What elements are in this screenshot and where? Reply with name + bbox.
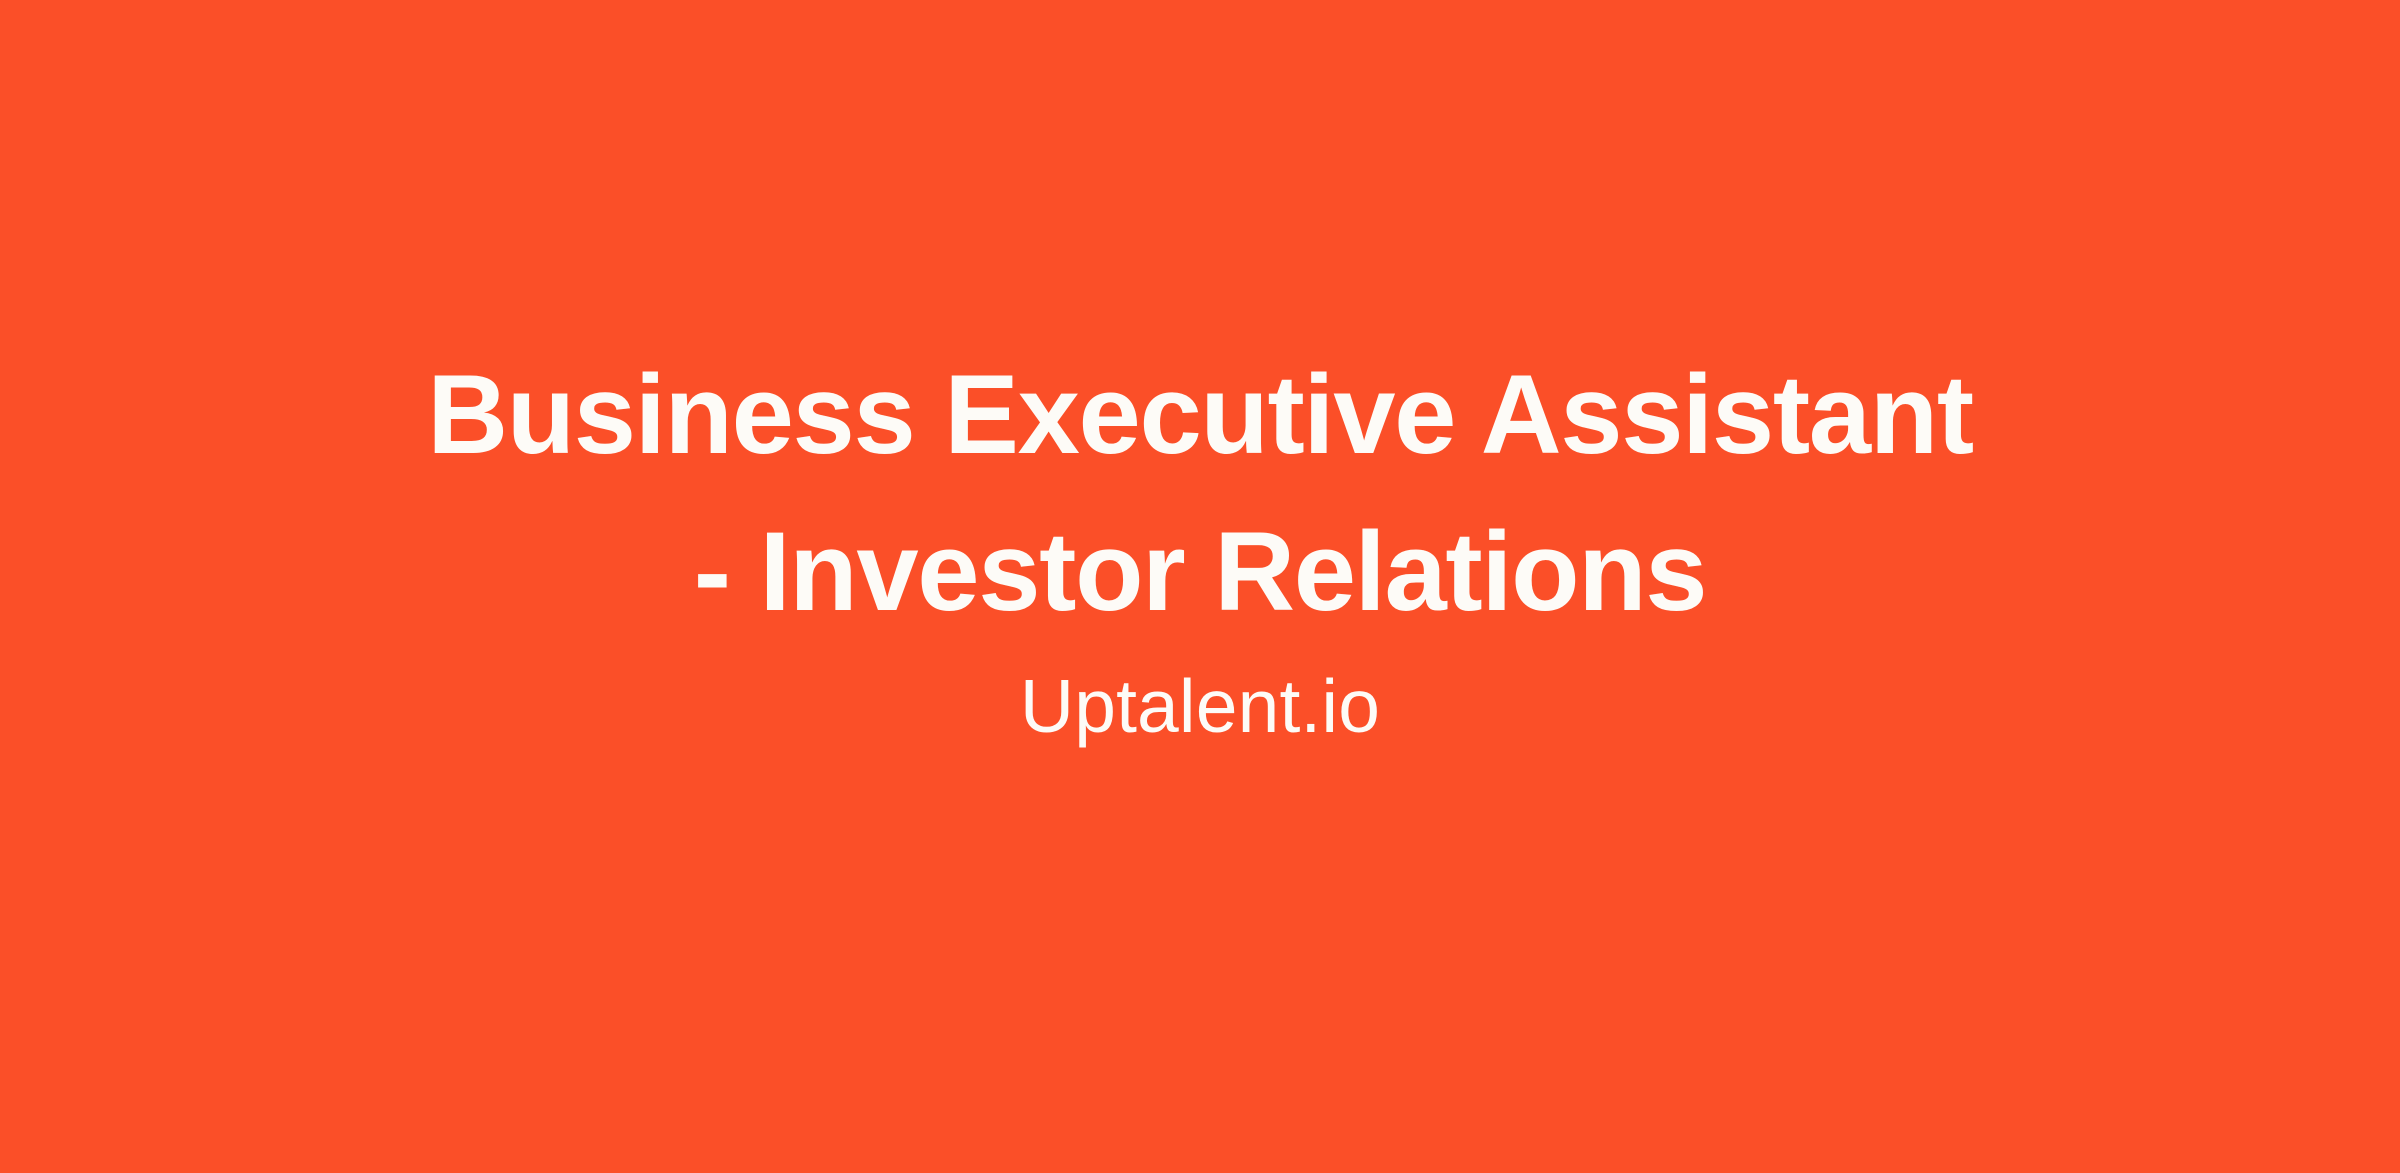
page-title: Business Executive Assistant - Investor … <box>427 336 1973 650</box>
card-text-stack: Business Executive Assistant - Investor … <box>200 336 2200 754</box>
job-title-card: Business Executive Assistant - Investor … <box>0 0 2400 1173</box>
company-name: Uptalent.io <box>1020 658 1380 754</box>
